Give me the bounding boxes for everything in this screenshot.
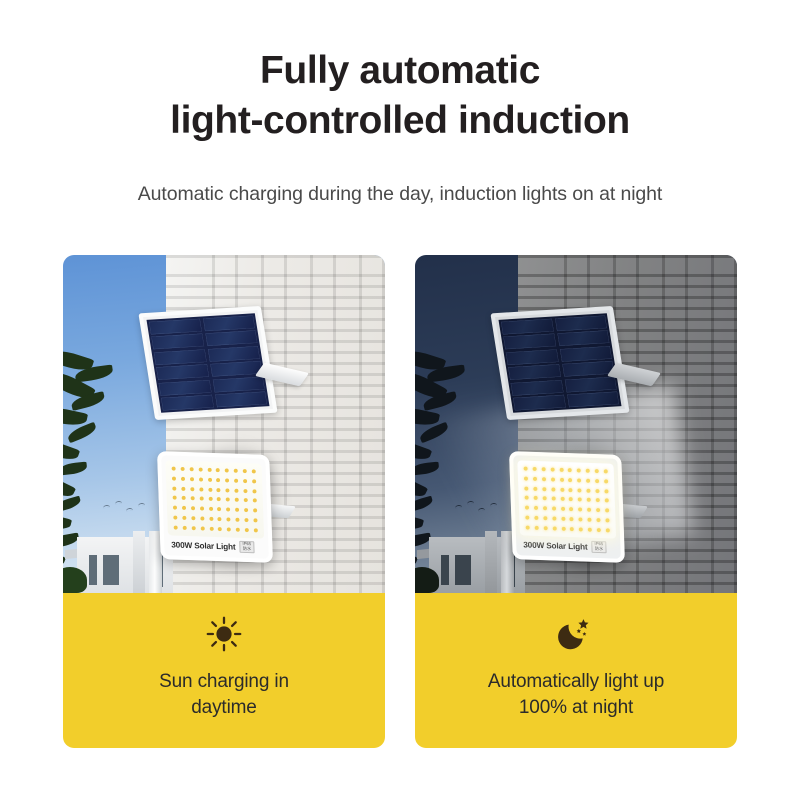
feature-card-list: 300W Solar Light IP65 防水 bbox=[63, 255, 737, 748]
product-label-row: 300W Solar Light IP65 防水 bbox=[520, 535, 617, 556]
product-feature-page: Fully automatic light-controlled inducti… bbox=[0, 0, 800, 800]
solar-panel-cells bbox=[146, 313, 269, 412]
ip-rating-badge: IP65 防水 bbox=[239, 541, 254, 554]
floodlight-fixture: 300W Solar Light IP65 防水 bbox=[509, 451, 625, 563]
page-subtitle: Automatic charging during the day, induc… bbox=[0, 183, 800, 206]
photo-night-scene: 300W Solar Light IP65 防水 bbox=[415, 255, 737, 593]
caption-bar-day: Sun charging in daytime bbox=[63, 593, 385, 748]
sun-icon bbox=[205, 615, 243, 653]
headline-line-1: Fully automatic bbox=[260, 49, 540, 92]
product-label-text: 300W Solar Light bbox=[523, 540, 587, 551]
solar-panel-cells bbox=[498, 313, 621, 412]
caption-bar-night: Automatically light up 100% at night bbox=[415, 593, 737, 748]
feature-card-day: 300W Solar Light IP65 防水 bbox=[63, 255, 385, 748]
floodlight-fixture: 300W Solar Light IP65 防水 bbox=[157, 451, 273, 563]
product-label-text: 300W Solar Light bbox=[171, 540, 235, 551]
solar-panel bbox=[490, 306, 629, 420]
moon-stars-icon bbox=[557, 615, 595, 653]
photo-day-scene: 300W Solar Light IP65 防水 bbox=[63, 255, 385, 593]
page-title: Fully automatic light-controlled inducti… bbox=[0, 46, 800, 146]
headline-line-2: light-controlled induction bbox=[0, 96, 800, 146]
feature-card-night: 300W Solar Light IP65 防水 Autom bbox=[415, 255, 737, 748]
led-array bbox=[165, 460, 264, 538]
caption-day-line-2: daytime bbox=[159, 695, 289, 721]
led-array bbox=[517, 460, 616, 538]
ip-rating-line-2: 防水 bbox=[595, 547, 604, 552]
caption-text-day: Sun charging in daytime bbox=[159, 669, 289, 721]
ip-rating-line-2: 防水 bbox=[243, 547, 252, 552]
caption-night-line-2: 100% at night bbox=[488, 695, 664, 721]
caption-text-night: Automatically light up 100% at night bbox=[488, 669, 664, 721]
caption-night-line-1: Automatically light up bbox=[488, 669, 664, 695]
caption-day-line-1: Sun charging in bbox=[159, 669, 289, 695]
solar-panel bbox=[138, 306, 277, 420]
ip-rating-badge: IP65 防水 bbox=[591, 541, 606, 554]
product-label-row: 300W Solar Light IP65 防水 bbox=[168, 535, 265, 556]
